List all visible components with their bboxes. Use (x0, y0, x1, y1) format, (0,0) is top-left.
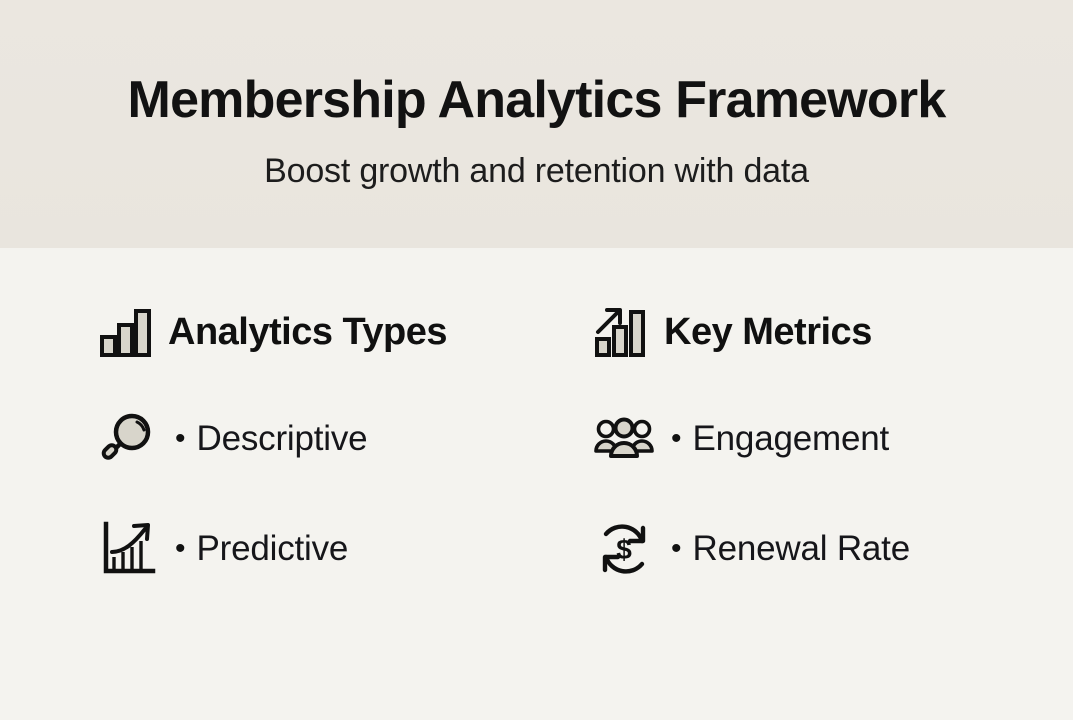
list-item-label: Renewal Rate (693, 529, 910, 569)
list-item: $ • Renewal Rate (594, 510, 1000, 588)
magnifier-icon (98, 410, 158, 468)
column-analytics-types: Analytics Types • Descriptive (0, 296, 500, 588)
refresh-dollar-icon: $ (594, 519, 654, 579)
column-heading-label: Key Metrics (664, 311, 872, 354)
people-group-icon (594, 415, 654, 463)
list-item-label: Predictive (197, 529, 349, 569)
bullet-marker: • (671, 534, 682, 564)
column-heading-label: Analytics Types (168, 311, 447, 354)
slide-header: Membership Analytics Framework Boost gro… (0, 0, 1073, 248)
slide-body: Analytics Types • Descriptive (0, 248, 1073, 720)
bar-chart-icon (98, 304, 154, 360)
bar-chart-arrow-icon (594, 304, 650, 360)
svg-text:$: $ (616, 534, 632, 565)
bullet-marker: • (671, 424, 682, 454)
list-item: • Engagement (594, 400, 1000, 478)
list-item-label: Engagement (693, 419, 889, 459)
bullet-marker: • (175, 424, 186, 454)
list-item: • Predictive (98, 510, 500, 588)
growth-chart-icon (98, 519, 158, 579)
column-heading-key-metrics: Key Metrics (594, 296, 1000, 368)
bullet-marker: • (175, 534, 186, 564)
column-key-metrics: Key Metrics • Engagemen (500, 296, 1000, 588)
list-item-label: Descriptive (197, 419, 368, 459)
slide: Membership Analytics Framework Boost gro… (0, 0, 1073, 720)
page-title: Membership Analytics Framework (128, 74, 946, 126)
page-subtitle: Boost growth and retention with data (264, 152, 809, 191)
content-columns: Analytics Types • Descriptive (0, 296, 1073, 588)
column-heading-analytics-types: Analytics Types (98, 296, 500, 368)
list-item: • Descriptive (98, 400, 500, 478)
